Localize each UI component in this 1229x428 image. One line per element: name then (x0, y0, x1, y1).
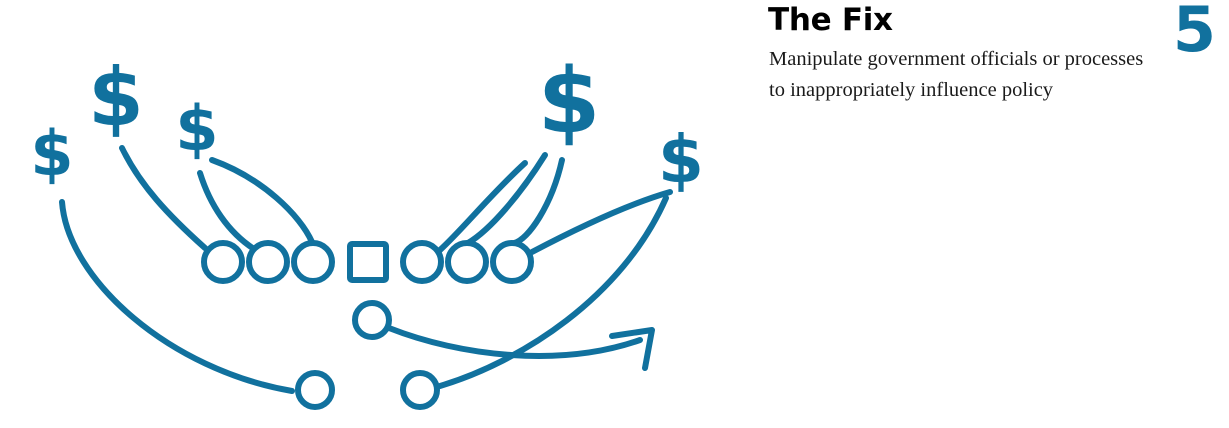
money-symbol-money-left-1: $ (30, 117, 73, 190)
route-money-left1-to-back-left (62, 202, 292, 391)
money-markers-group: $$$$$ (30, 49, 704, 198)
play-card: $$$$$ The Fix Manipulate government offi… (0, 0, 1229, 428)
money-symbol-money-right-2: $ (658, 121, 704, 198)
player-marker-back-right (403, 373, 437, 407)
offensive-line-group (204, 243, 531, 281)
route-money-right1-to-lineman5 (440, 163, 525, 250)
player-marker-lineman-5 (403, 243, 441, 281)
backfield-group (298, 303, 437, 407)
player-marker-quarterback (355, 303, 389, 337)
player-marker-lineman-1 (204, 243, 242, 281)
route-money-right1-to-lineman7 (514, 160, 562, 243)
card-description: Manipulate government officials or proce… (769, 44, 1161, 106)
route-money-left3-to-lineman3 (212, 160, 312, 242)
card-number-badge: 5 (1173, 0, 1216, 66)
player-marker-lineman-2 (249, 243, 287, 281)
player-marker-back-left (298, 373, 332, 407)
football-play-diagram: $$$$$ (0, 0, 760, 428)
play-diagram-svg: $$$$$ (0, 0, 760, 428)
routes-group (62, 148, 670, 391)
route-money-left3-to-lineman2 (200, 173, 254, 249)
card-text-panel: The Fix Manipulate government officials … (766, 0, 1229, 428)
money-symbol-money-left-2: $ (88, 51, 144, 144)
player-marker-center (350, 244, 386, 280)
page-title: The Fix (768, 2, 893, 38)
money-symbol-money-left-3: $ (175, 92, 218, 165)
money-symbol-money-right-1: $ (538, 49, 601, 154)
player-marker-lineman-7 (493, 243, 531, 281)
player-marker-lineman-6 (448, 243, 486, 281)
route-money-right2-to-lineman7 (532, 192, 670, 252)
player-marker-lineman-3 (294, 243, 332, 281)
